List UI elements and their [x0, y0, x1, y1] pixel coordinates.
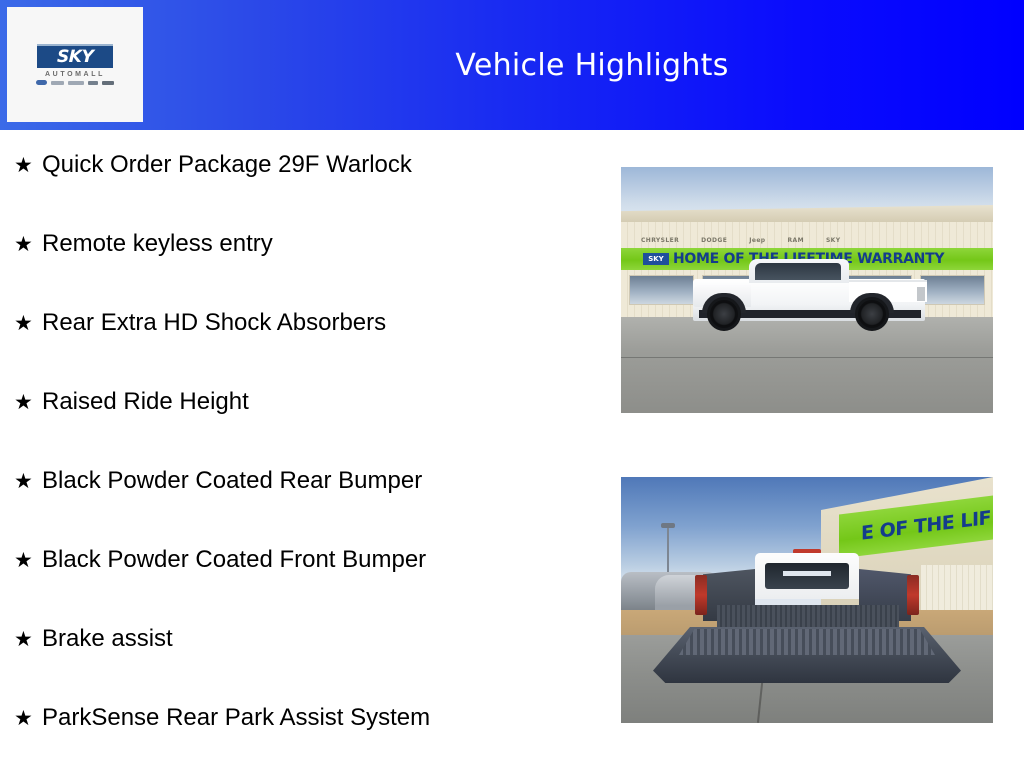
feature-label: Black Powder Coated Rear Bumper — [42, 466, 422, 496]
feature-label: Quick Order Package 29F Warlock — [42, 150, 412, 180]
list-item: ★ Raised Ride Height — [0, 387, 600, 466]
vehicle-photo-truck-bed[interactable]: E OF THE LIF — [621, 477, 993, 723]
feature-label: Raised Ride Height — [42, 387, 249, 417]
star-bullet-icon: ★ — [14, 229, 42, 259]
star-bullet-icon: ★ — [14, 387, 42, 417]
photo2-rear-window — [765, 563, 849, 589]
photo1-pavement — [621, 317, 993, 413]
ram-logo-icon: RAM — [788, 237, 804, 244]
ram-logo-icon — [88, 81, 98, 85]
list-item: ★ Black Powder Coated Front Bumper — [0, 545, 600, 624]
photo1-front-wheel — [707, 297, 741, 331]
feature-label: Rear Extra HD Shock Absorbers — [42, 308, 386, 338]
oem-brand-marks — [36, 80, 114, 86]
photo1-banner-sky-badge: SKY — [643, 253, 669, 265]
jeep-logo-icon — [68, 81, 84, 85]
photo1-taillight — [917, 287, 925, 301]
photo1-truck-windows — [755, 263, 841, 280]
list-item: ★ Quick Order Package 29F Warlock — [0, 150, 600, 229]
sky-logo-icon — [102, 81, 114, 85]
slide-header: Vehicle Highlights — [0, 0, 1024, 130]
photo2-taillight-left — [695, 575, 707, 615]
list-item: ★ Brake assist — [0, 624, 600, 703]
chrysler-logo-icon — [36, 80, 47, 85]
feature-label: Brake assist — [42, 624, 173, 654]
star-bullet-icon: ★ — [14, 466, 42, 496]
feature-label: ParkSense Rear Park Assist System — [42, 703, 430, 733]
vehicle-photo-side-profile[interactable]: CHRYSLER DODGE Jeep RAM SKY SKY HOME OF … — [621, 167, 993, 413]
window-pane — [629, 275, 694, 305]
feature-label: Remote keyless entry — [42, 229, 273, 259]
sky-logo-icon: SKY — [826, 237, 841, 244]
photo1-oem-brand-strip: CHRYSLER DODGE Jeep RAM SKY — [621, 233, 993, 247]
dealer-logo: SKY AUTOMALL — [27, 44, 123, 86]
star-bullet-icon: ★ — [14, 545, 42, 575]
star-bullet-icon: ★ — [14, 624, 42, 654]
list-item: ★ Remote keyless entry — [0, 229, 600, 308]
photo2-tailgate-surface — [679, 629, 935, 655]
list-item: ★ ParkSense Rear Park Assist System — [0, 703, 600, 768]
photo2-taillight-right — [907, 575, 919, 615]
star-bullet-icon: ★ — [14, 703, 42, 733]
photo2-banner-text: E OF THE LIF — [861, 507, 993, 545]
dodge-logo-icon — [51, 81, 64, 85]
feature-label: Black Powder Coated Front Bumper — [42, 545, 426, 575]
sky-badge: SKY — [37, 44, 113, 68]
dodge-logo-icon: DODGE — [701, 237, 727, 244]
star-bullet-icon: ★ — [14, 150, 42, 180]
dealer-logo-card[interactable]: SKY AUTOMALL — [7, 7, 143, 122]
page-title: Vehicle Highlights — [160, 0, 1024, 130]
list-item: ★ Black Powder Coated Rear Bumper — [0, 466, 600, 545]
chrysler-logo-icon: CHRYSLER — [641, 237, 679, 244]
jeep-logo-icon: Jeep — [749, 237, 765, 244]
photo1-rear-wheel — [855, 297, 889, 331]
list-item: ★ Rear Extra HD Shock Absorbers — [0, 308, 600, 387]
automall-label: AUTOMALL — [45, 71, 105, 78]
sky-badge-label: SKY — [57, 47, 94, 67]
star-bullet-icon: ★ — [14, 308, 42, 338]
slide-vehicle-highlights: Vehicle Highlights SKY AUTOMALL ★ Quick … — [0, 0, 1024, 768]
feature-list: ★ Quick Order Package 29F Warlock ★ Remo… — [0, 150, 600, 768]
window-pane — [920, 275, 985, 305]
